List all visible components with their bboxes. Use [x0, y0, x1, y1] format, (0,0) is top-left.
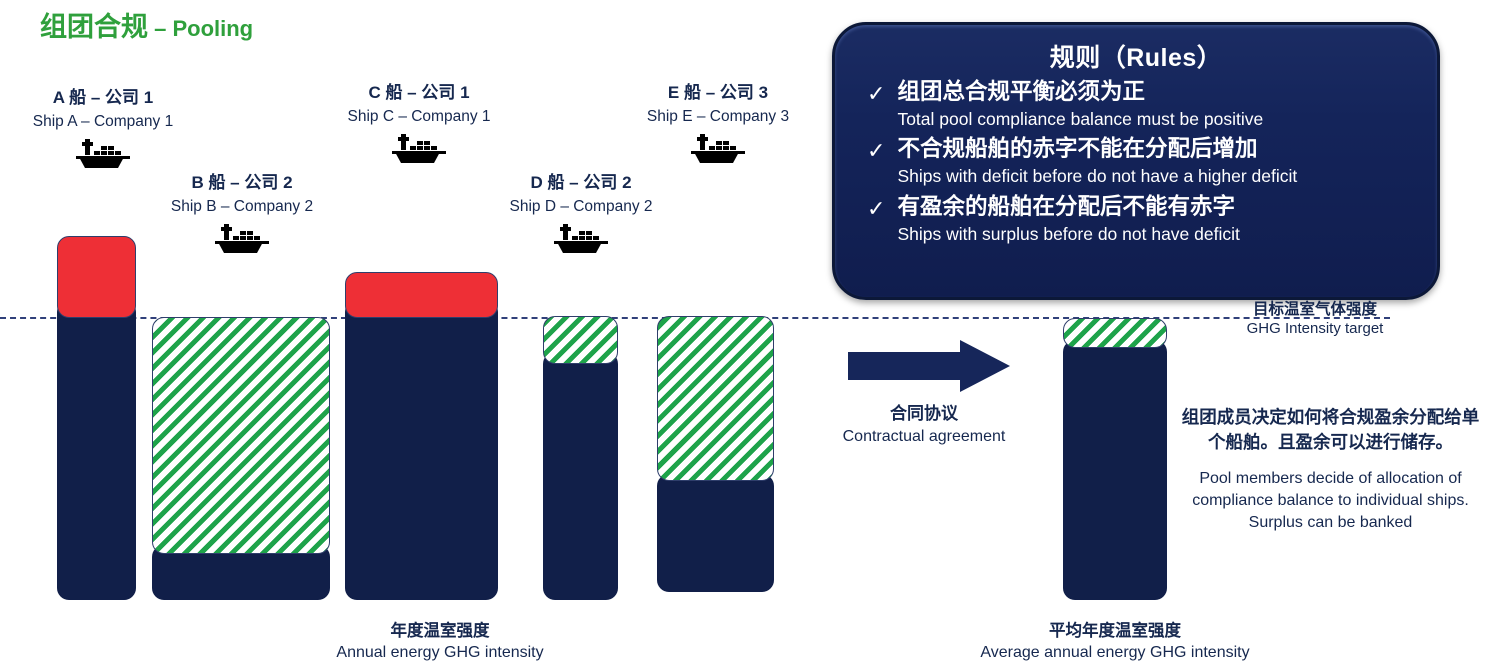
- right-axis-caption-en: Average annual energy GHG intensity: [960, 642, 1270, 664]
- contractual-agreement-cn: 合同协议: [818, 403, 1030, 426]
- ship-label-cn: D 船 – 公司 2: [495, 172, 667, 195]
- page-title: 组团合规 – Pooling: [40, 5, 253, 44]
- check-icon: ✓: [867, 77, 885, 105]
- ghg-target-label-cn: 目标温室气体强度: [1185, 300, 1445, 319]
- bar-e-green-segment: [657, 316, 774, 481]
- slide-canvas: 组团合规 – Pooling A 船 – 公司 1 Ship A – Compa…: [0, 0, 1500, 671]
- bar-c-navy-segment: [345, 300, 498, 600]
- page-title-en: Pooling: [172, 16, 253, 41]
- ship-label-cn: B 船 – 公司 2: [157, 172, 327, 195]
- bar-a-navy-segment: [57, 300, 136, 600]
- rule-text-cn: 有盈余的船舶在分配后不能有赤字: [897, 192, 1423, 222]
- right-axis-caption: 平均年度温室强度 Average annual energy GHG inten…: [960, 620, 1270, 665]
- rule-item-2: ✓ 不合规船舶的赤字不能在分配后增加 Ships with deficit be…: [867, 134, 1423, 188]
- ship-label-en: Ship E – Company 3: [632, 105, 804, 128]
- check-icon: ✓: [867, 134, 885, 162]
- contractual-agreement-caption: 合同协议 Contractual agreement: [818, 403, 1030, 448]
- bar-d-green-segment: [543, 316, 618, 364]
- ship-label-cn: A 船 – 公司 1: [18, 87, 188, 110]
- ghg-target-label-en: GHG Intensity target: [1185, 319, 1445, 339]
- page-title-sep: –: [148, 16, 172, 41]
- bar-b-green-segment: [152, 317, 330, 554]
- ship-label-group-a: A 船 – 公司 1 Ship A – Company 1: [18, 87, 188, 171]
- ship-icon: [157, 222, 327, 256]
- rule-text-cn: 组团总合规平衡必须为正: [897, 77, 1423, 107]
- left-axis-caption-en: Annual energy GHG intensity: [285, 642, 595, 664]
- ship-label-group-d: D 船 – 公司 2 Ship D – Company 2: [495, 172, 667, 256]
- ship-label-en: Ship D – Company 2: [495, 195, 667, 218]
- pool-allocation-note-en: Pool members decide of allocation of com…: [1178, 468, 1483, 534]
- ship-icon: [18, 137, 188, 171]
- ship-label-cn: C 船 – 公司 1: [333, 82, 505, 105]
- ship-label-en: Ship A – Company 1: [18, 110, 188, 133]
- page-title-cn: 组团合规: [40, 12, 148, 42]
- ship-label-group-b: B 船 – 公司 2 Ship B – Company 2: [157, 172, 327, 256]
- ship-icon: [495, 222, 667, 256]
- bar-a-red-segment: [57, 236, 136, 318]
- left-axis-caption: 年度温室强度 Annual energy GHG intensity: [285, 620, 595, 665]
- ghg-target-label: 目标温室气体强度 GHG Intensity target: [1185, 300, 1445, 339]
- rule-text-en: Ships with surplus before do not have de…: [897, 222, 1423, 247]
- ship-icon: [632, 132, 804, 166]
- rule-text-en: Ships with deficit before do not have a …: [897, 164, 1423, 189]
- rules-panel-title: 规则（Rules）: [849, 38, 1423, 74]
- check-icon: ✓: [867, 192, 885, 220]
- contractual-agreement-en: Contractual agreement: [818, 426, 1030, 448]
- bar-pooled-green-segment: [1063, 318, 1167, 348]
- bar-c-red-segment: [345, 272, 498, 318]
- ship-label-group-e: E 船 – 公司 3 Ship E – Company 3: [632, 82, 804, 166]
- left-axis-caption-cn: 年度温室强度: [285, 620, 595, 642]
- bar-d-navy-segment: [543, 352, 618, 600]
- ship-icon: [333, 132, 505, 166]
- rules-panel: 规则（Rules） ✓ 组团总合规平衡必须为正 Total pool compl…: [832, 22, 1440, 300]
- rule-item-1: ✓ 组团总合规平衡必须为正 Total pool compliance bala…: [867, 77, 1423, 131]
- bar-e-navy-segment: [657, 474, 774, 592]
- ship-label-en: Ship B – Company 2: [157, 195, 327, 218]
- bar-pooled-navy-segment: [1063, 340, 1167, 600]
- right-axis-caption-cn: 平均年度温室强度: [960, 620, 1270, 642]
- ship-label-group-c: C 船 – 公司 1 Ship C – Company 1: [333, 82, 505, 166]
- rule-text-en: Total pool compliance balance must be po…: [897, 107, 1423, 132]
- rule-item-3: ✓ 有盈余的船舶在分配后不能有赤字 Ships with surplus bef…: [867, 192, 1423, 246]
- ship-label-cn: E 船 – 公司 3: [632, 82, 804, 105]
- right-arrow-icon: [848, 340, 1010, 392]
- pool-allocation-note: 组团成员决定如何将合规盈余分配给单个船舶。且盈余可以进行储存。 Pool mem…: [1178, 405, 1483, 534]
- pool-allocation-note-cn: 组团成员决定如何将合规盈余分配给单个船舶。且盈余可以进行储存。: [1178, 405, 1483, 456]
- rule-text-cn: 不合规船舶的赤字不能在分配后增加: [897, 134, 1423, 164]
- ship-label-en: Ship C – Company 1: [333, 105, 505, 128]
